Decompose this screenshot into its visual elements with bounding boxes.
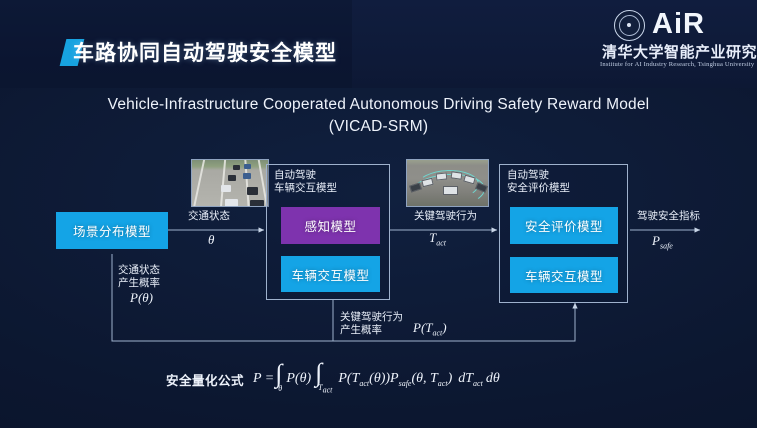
formula-diff-1-sub: act [473, 379, 483, 388]
group-label-av-safety-eval: 自动驾驶 安全评价模型 [507, 169, 570, 195]
group-label-av-interaction: 自动驾驶 车辆交互模型 [274, 169, 337, 195]
edge-label-traffic-state-probability-line2: 产生概率 [118, 277, 160, 290]
edge-label-traffic-state-probability-line1: 交通状态 [118, 264, 160, 277]
node-vehicle-interaction-model-right[interactable]: 车辆交互模型 [510, 257, 618, 293]
edge-label-driving-safety-index: 驾驶安全指标 [637, 210, 700, 223]
edge-symbol-p-t-act: P(Tact) [413, 320, 447, 338]
group-label-av-safety-eval-line2: 安全评价模型 [507, 182, 570, 195]
formula-integral-2: ∫ Tact [315, 364, 332, 395]
highway-traffic-photo [191, 159, 269, 207]
edge-symbol-p-t-act-close: ) [442, 320, 446, 335]
edge-label-key-driving-behavior: 关键驾驶行为 [414, 210, 477, 223]
edge-symbol-p-t-act-sub: act [433, 329, 443, 338]
formula-term-2-c: (θ, T [411, 371, 437, 386]
edge-symbol-t-act: Tact [429, 230, 446, 248]
formula-lhs: P = [253, 371, 274, 387]
formula-integral-1-glyph: ∫ [275, 365, 282, 383]
node-perception-model[interactable]: 感知模型 [281, 207, 380, 244]
edge-symbol-p-safe-base: P [652, 233, 660, 248]
formula-diff-1: dT [458, 371, 473, 386]
formula-integral-2-glyph: ∫ [315, 364, 322, 382]
formula-label: 安全量化公式 [166, 370, 244, 389]
formula-term-2-b-sub: safe [399, 379, 412, 388]
edge-label-key-behavior-probability-line1: 关键驾驶行为 [340, 311, 403, 324]
formula-differentials: dTactdθ [458, 371, 499, 388]
safety-quantification-formula: P = ∫ θ P(θ) ∫ Tact P(Tact(θ))Psafe(θ, T… [253, 364, 500, 395]
formula-diff-2: dθ [486, 371, 500, 386]
group-label-av-safety-eval-line1: 自动驾驶 [507, 169, 570, 182]
group-label-av-interaction-line1: 自动驾驶 [274, 169, 337, 182]
formula-term-1: P(θ) [286, 371, 311, 387]
node-scene-distribution-model[interactable]: 场景分布模型 [56, 212, 168, 249]
formula-term-2-b: (θ))P [369, 371, 398, 386]
edge-symbol-p-safe: Psafe [652, 233, 673, 251]
formula-term-2-d: ) [448, 371, 453, 386]
edge-label-key-behavior-probability: 关键驾驶行为 产生概率 [340, 311, 403, 337]
node-safety-evaluation-model[interactable]: 安全评价模型 [510, 207, 618, 244]
formula-term-2: P(Tact(θ))Psafe(θ, Tact) [338, 371, 452, 388]
formula-term-2-a: P(T [338, 371, 359, 386]
node-vehicle-interaction-model-mid[interactable]: 车辆交互模型 [281, 256, 380, 292]
edge-symbol-p-safe-sub: safe [660, 242, 673, 251]
formula-term-2-a-sub: act [359, 379, 369, 388]
edge-label-traffic-state: 交通状态 [188, 210, 230, 223]
edge-symbol-p-t-act-base: P(T [413, 320, 433, 335]
aerial-trajectory-photo [406, 159, 489, 207]
edge-label-key-behavior-probability-line2: 产生概率 [340, 324, 403, 337]
edge-label-traffic-state-probability: 交通状态 产生概率 [118, 264, 160, 290]
edge-symbol-p-theta: P(θ) [130, 290, 153, 306]
formula-integral-1: ∫ θ [275, 365, 282, 393]
formula-integral-2-sub: Tact [318, 383, 332, 395]
edge-symbol-theta: θ [208, 232, 214, 248]
formula-term-2-c-sub: act [438, 379, 448, 388]
edge-symbol-t-act-sub: act [436, 239, 446, 248]
formula-integral-1-sub: θ [278, 384, 282, 393]
group-label-av-interaction-line2: 车辆交互模型 [274, 182, 337, 195]
slide-canvas: 车路协同自动驾驶安全模型 AiR 清华大学智能产业研究院 Institute f… [0, 0, 757, 428]
